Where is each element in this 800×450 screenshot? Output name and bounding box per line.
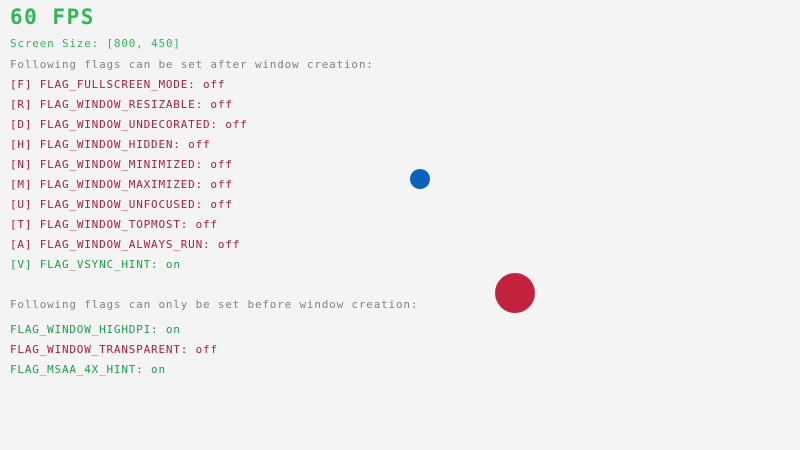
runtime-flag-row[interactable]: [V] FLAG_VSYNC_HINT: on: [10, 259, 181, 270]
flag-state: off: [225, 118, 247, 131]
runtime-flag-row[interactable]: [A] FLAG_WINDOW_ALWAYS_RUN: off: [10, 239, 240, 250]
flag-state: on: [151, 363, 166, 376]
flag-state: on: [166, 323, 181, 336]
runtime-flag-row[interactable]: [M] FLAG_WINDOW_MAXIMIZED: off: [10, 179, 233, 190]
creation-flags-section-note: Following flags can only be set before w…: [10, 299, 418, 310]
runtime-flag-row[interactable]: [R] FLAG_WINDOW_RESIZABLE: off: [10, 99, 233, 110]
runtime-flag-row[interactable]: [T] FLAG_WINDOW_TOPMOST: off: [10, 219, 218, 230]
screen-size-label: Screen Size: [800, 450]: [10, 38, 181, 49]
flag-hotkey: [N]: [10, 158, 40, 171]
flag-hotkey: [T]: [10, 218, 40, 231]
flag-name: FLAG_FULLSCREEN_MODE:: [40, 78, 203, 91]
flag-state: off: [210, 158, 232, 171]
flag-name: FLAG_WINDOW_UNFOCUSED:: [40, 198, 211, 211]
raylib-window-canvas[interactable]: 60 FPS Screen Size: [800, 450] Following…: [0, 0, 800, 450]
flag-name: FLAG_WINDOW_TOPMOST:: [40, 218, 196, 231]
creation-flag-row: FLAG_WINDOW_TRANSPARENT: off: [10, 344, 218, 355]
flag-hotkey: [A]: [10, 238, 40, 251]
flag-hotkey: [U]: [10, 198, 40, 211]
flag-hotkey: [F]: [10, 78, 40, 91]
flag-hotkey: [D]: [10, 118, 40, 131]
flag-state: on: [166, 258, 181, 271]
runtime-flag-row[interactable]: [F] FLAG_FULLSCREEN_MODE: off: [10, 79, 225, 90]
runtime-flag-row[interactable]: [U] FLAG_WINDOW_UNFOCUSED: off: [10, 199, 233, 210]
fps-counter: 60 FPS: [10, 7, 95, 28]
creation-flag-row: FLAG_MSAA_4X_HINT: on: [10, 364, 166, 375]
blue-ball-shape: [410, 169, 430, 189]
flag-name: FLAG_MSAA_4X_HINT:: [10, 363, 151, 376]
flag-name: FLAG_VSYNC_HINT:: [40, 258, 166, 271]
flag-state: off: [196, 343, 218, 356]
flag-state: off: [196, 218, 218, 231]
runtime-flag-row[interactable]: [D] FLAG_WINDOW_UNDECORATED: off: [10, 119, 248, 130]
flag-state: off: [210, 198, 232, 211]
flag-state: off: [188, 138, 210, 151]
flag-state: off: [210, 178, 232, 191]
flag-name: FLAG_WINDOW_RESIZABLE:: [40, 98, 211, 111]
runtime-flag-row[interactable]: [N] FLAG_WINDOW_MINIMIZED: off: [10, 159, 233, 170]
flag-name: FLAG_WINDOW_ALWAYS_RUN:: [40, 238, 218, 251]
flag-name: FLAG_WINDOW_TRANSPARENT:: [10, 343, 196, 356]
flag-name: FLAG_WINDOW_MAXIMIZED:: [40, 178, 211, 191]
red-ball-shape: [495, 273, 535, 313]
flag-hotkey: [R]: [10, 98, 40, 111]
flag-state: off: [203, 78, 225, 91]
flag-name: FLAG_WINDOW_HIGHDPI:: [10, 323, 166, 336]
creation-flag-row: FLAG_WINDOW_HIGHDPI: on: [10, 324, 181, 335]
runtime-flags-section-note: Following flags can be set after window …: [10, 59, 374, 70]
runtime-flag-row[interactable]: [H] FLAG_WINDOW_HIDDEN: off: [10, 139, 210, 150]
flag-state: off: [210, 98, 232, 111]
flag-hotkey: [M]: [10, 178, 40, 191]
flag-state: off: [218, 238, 240, 251]
flag-name: FLAG_WINDOW_MINIMIZED:: [40, 158, 211, 171]
flag-hotkey: [H]: [10, 138, 40, 151]
flag-name: FLAG_WINDOW_HIDDEN:: [40, 138, 188, 151]
flag-name: FLAG_WINDOW_UNDECORATED:: [40, 118, 226, 131]
flag-hotkey: [V]: [10, 258, 40, 271]
